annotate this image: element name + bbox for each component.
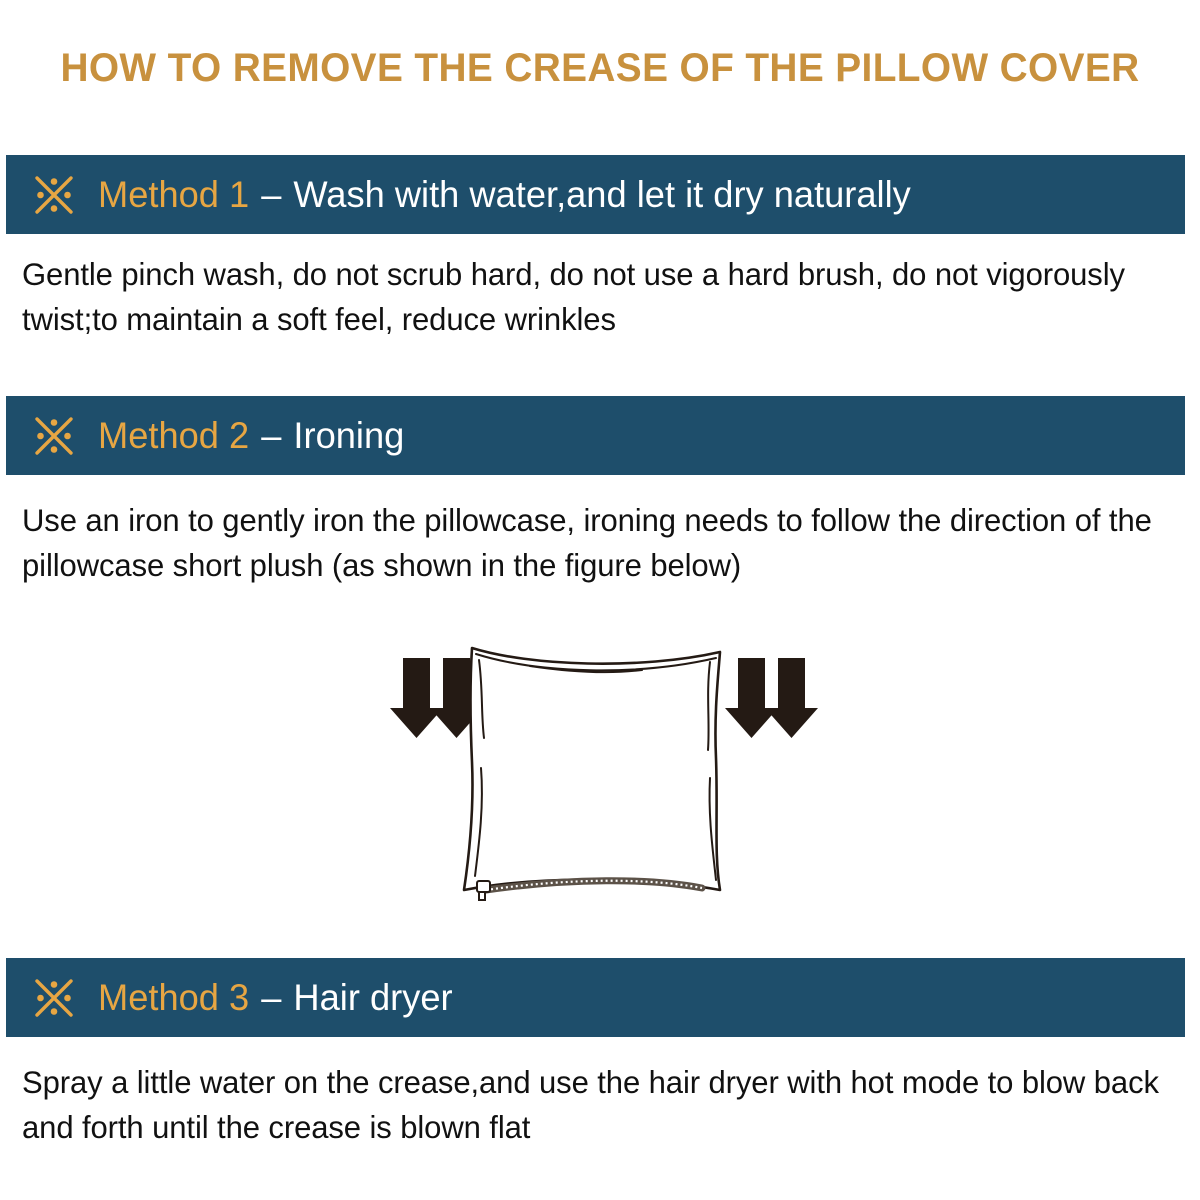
method-3-body: Spray a little water on the crease,and u…	[22, 1060, 1165, 1150]
pillow-ironing-direction-diagram	[380, 618, 820, 923]
infographic-page: HOW TO REMOVE THE CREASE OF THE PILLOW C…	[0, 0, 1200, 1200]
reference-mark-icon	[32, 976, 76, 1020]
arrow-down-left-group	[390, 658, 483, 738]
reference-mark-icon	[32, 173, 76, 217]
arrow-down-icon	[725, 658, 778, 738]
arrow-down-icon	[390, 658, 443, 738]
pillow-zipper	[477, 881, 702, 900]
method-2-label: Method 2	[98, 415, 249, 456]
method-1-body: Gentle pinch wash, do not scrub hard, do…	[22, 252, 1165, 342]
arrow-down-icon	[765, 658, 818, 738]
method-banner-2: Method 2 – Ironing	[6, 396, 1185, 475]
method-2-description: Ironing	[293, 415, 404, 456]
pillow-outline	[464, 648, 720, 890]
method-banner-3-text: Method 3 – Hair dryer	[98, 979, 453, 1016]
method-2-dash: –	[259, 415, 283, 456]
method-2-body: Use an iron to gently iron the pillowcas…	[22, 498, 1165, 588]
method-banner-3: Method 3 – Hair dryer	[6, 958, 1185, 1037]
reference-mark-icon	[32, 414, 76, 458]
page-title: HOW TO REMOVE THE CREASE OF THE PILLOW C…	[18, 46, 1182, 91]
method-banner-1-text: Method 1 – Wash with water,and let it dr…	[98, 176, 911, 213]
method-banner-1: Method 1 – Wash with water,and let it dr…	[6, 155, 1185, 234]
method-1-description: Wash with water,and let it dry naturally	[293, 174, 910, 215]
method-banner-2-text: Method 2 – Ironing	[98, 417, 404, 454]
method-1-label: Method 1	[98, 174, 249, 215]
method-3-description: Hair dryer	[293, 977, 452, 1018]
method-3-label: Method 3	[98, 977, 249, 1018]
method-3-dash: –	[259, 977, 283, 1018]
arrow-down-right-group	[725, 658, 818, 738]
method-1-dash: –	[259, 174, 283, 215]
zipper-pull-icon	[477, 881, 490, 900]
